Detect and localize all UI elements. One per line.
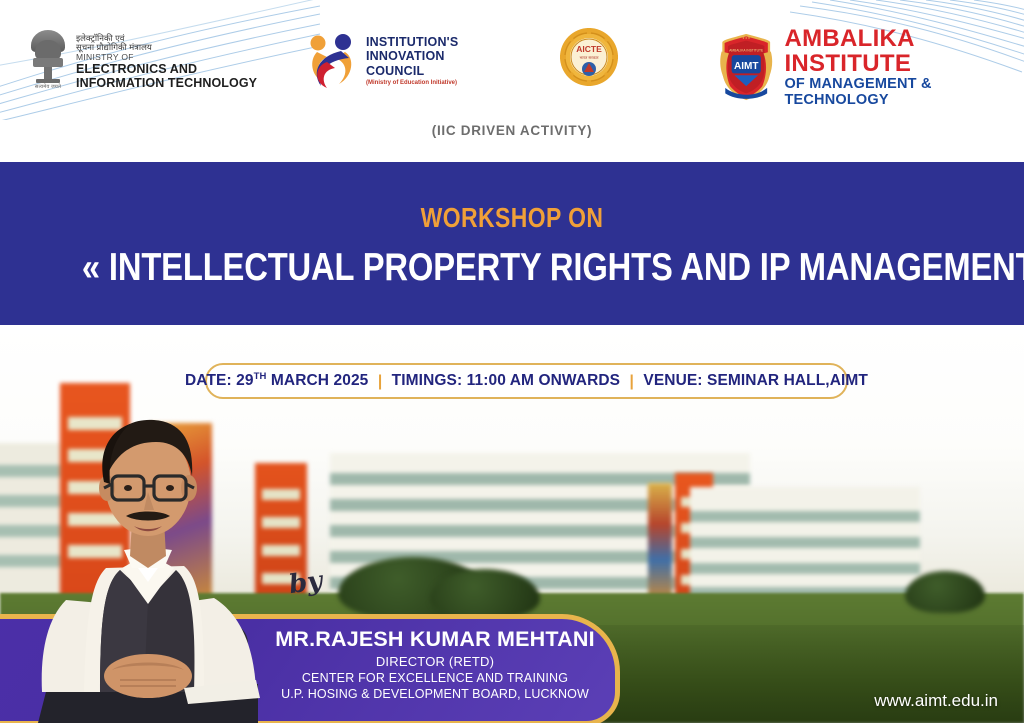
date-month-year: MARCH 2025 bbox=[271, 373, 368, 390]
aicte-gear-icon: AICTE भारत सरकार bbox=[558, 26, 620, 88]
iic-line-3: COUNCIL bbox=[366, 64, 458, 78]
building-right-wing bbox=[690, 487, 920, 597]
ministry-eng-line2: INFORMATION TECHNOLOGY bbox=[76, 76, 257, 90]
ashoka-emblem-icon: सत्यमेव जयते bbox=[28, 28, 68, 96]
detail-separator-1: | bbox=[378, 373, 382, 390]
ministry-eng-line1: ELECTRONICS AND bbox=[76, 62, 257, 76]
iic-subtitle: (Ministry of Education Initiative) bbox=[366, 80, 458, 87]
title-band: WORKSHOP ON « INTELLECTUAL PROPERTY RIGH… bbox=[0, 162, 1024, 325]
date-value: 29 bbox=[236, 373, 253, 390]
date-label: DATE: bbox=[185, 373, 232, 390]
speaker-org-line2: U.P. HOSING & DEVELOPMENT BOARD, LUCKNOW bbox=[265, 687, 605, 701]
campus-banner-pole bbox=[648, 483, 672, 601]
speaker-org-line1: CENTER FOR EXCELLENCE AND TRAINING bbox=[265, 671, 605, 685]
date-ordinal: TH bbox=[254, 371, 267, 382]
poster-root: सत्यमेव जयते इलेक्ट्रॉनिकी एवं सूचना प्र… bbox=[0, 0, 1024, 723]
website-url: www.aimt.edu.in bbox=[874, 691, 998, 711]
poster-header: सत्यमेव जयते इलेक्ट्रॉनिकी एवं सूचना प्र… bbox=[0, 0, 1024, 162]
timings-value: 11:00 AM ONWARDS bbox=[467, 373, 620, 390]
logo-iic: INSTITUTION'S INNOVATION COUNCIL (Minist… bbox=[305, 32, 458, 90]
iic-mark-icon bbox=[305, 32, 357, 90]
svg-text:AICTE: AICTE bbox=[576, 44, 602, 54]
ambalika-subtitle: OF MANAGEMENT & TECHNOLOGY bbox=[784, 77, 1024, 107]
svg-text:भारत सरकार: भारत सरकार bbox=[580, 55, 599, 60]
aimt-crest-icon: AMBALIKA INSTITUTE AIMT ★★★ bbox=[718, 30, 774, 104]
ministry-of-label: MINISTRY OF bbox=[76, 53, 257, 63]
iic-line-2: INNOVATION bbox=[366, 49, 458, 63]
page-title: « INTELLECTUAL PROPERTY RIGHTS AND IP MA… bbox=[82, 246, 942, 290]
ambalika-name: AMBALIKA INSTITUTE bbox=[784, 26, 1024, 76]
detail-separator-2: | bbox=[630, 373, 634, 390]
svg-text:★★★: ★★★ bbox=[742, 36, 751, 40]
venue-value: SEMINAR HALL,AIMT bbox=[707, 373, 868, 390]
iic-driven-activity-tag: (IIC DRIVEN ACTIVITY) bbox=[0, 123, 1024, 138]
logo-ambalika: AMBALIKA INSTITUTE AIMT ★★★ AMBALIKA INS… bbox=[718, 26, 1024, 108]
tree-right-icon bbox=[905, 571, 985, 613]
timings-label: TIMINGS: bbox=[392, 373, 463, 390]
svg-text:AIMT: AIMT bbox=[734, 61, 758, 72]
iic-line-1: INSTITUTION'S bbox=[366, 35, 458, 49]
logo-row: सत्यमेव जयते इलेक्ट्रॉनिकी एवं सूचना प्र… bbox=[0, 26, 1024, 108]
speaker-photo bbox=[8, 392, 308, 723]
venue-label: VENUE: bbox=[643, 373, 702, 390]
speaker-role: DIRECTOR (RETD) bbox=[265, 654, 605, 669]
emblem-motto: सत्यमेव जयते bbox=[28, 84, 68, 90]
workshop-eyebrow: WORKSHOP ON bbox=[92, 202, 932, 234]
speaker-name: MR.RAJESH KUMAR MEHTANI bbox=[265, 627, 605, 652]
logo-ministry-meity: सत्यमेव जयते इलेक्ट्रॉनिकी एवं सूचना प्र… bbox=[28, 28, 257, 96]
svg-text:AMBALIKA INSTITUTE: AMBALIKA INSTITUTE bbox=[729, 48, 764, 52]
logo-aicte: AICTE भारत सरकार bbox=[558, 26, 620, 88]
event-details-text: DATE: 29TH MARCH 2025 | TIMINGS: 11:00 A… bbox=[185, 371, 868, 390]
